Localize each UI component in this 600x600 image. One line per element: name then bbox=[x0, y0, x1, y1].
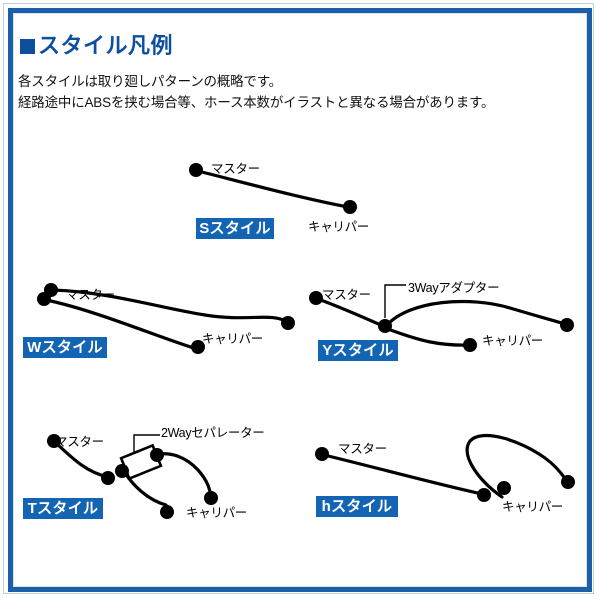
h-style-caliper-label: キャリパー bbox=[502, 496, 563, 515]
style-legend-page: スタイル凡例 各スタイルは取り廻しパターンの概略です。 経路途中にABSを挟む場… bbox=[0, 0, 600, 600]
y-style-caliper-label: キャリパー bbox=[482, 330, 543, 349]
h-style-master-label: マスター bbox=[338, 438, 387, 457]
w-style-master-label: マスター bbox=[66, 284, 115, 303]
description-line-2: 経路途中にABSを挟む場合等、ホース本数がイラストと異なる場合があります。 bbox=[18, 91, 494, 111]
y-style-3way-adapter-label: 3Wayアダプター bbox=[408, 277, 499, 296]
chip-y-style[interactable]: Yスタイル bbox=[318, 340, 398, 361]
page-title: スタイル凡例 bbox=[20, 28, 173, 60]
s-style-caliper-label: キャリパー bbox=[308, 216, 369, 235]
t-style-2way-separator-label: 2Wayセパレーター bbox=[161, 422, 265, 441]
y-style-master-label: マスター bbox=[322, 284, 371, 303]
description-line-1: 各スタイルは取り廻しパターンの概略です。 bbox=[18, 70, 282, 90]
s-style-master-label: マスター bbox=[211, 158, 260, 177]
chip-s-style[interactable]: Sスタイル bbox=[196, 218, 274, 239]
chip-w-style[interactable]: Wスタイル bbox=[23, 337, 107, 358]
w-style-caliper-label: キャリパー bbox=[202, 328, 263, 347]
square-bullet-icon bbox=[20, 39, 35, 54]
page-title-text: スタイル凡例 bbox=[38, 33, 173, 58]
chip-h-style[interactable]: hスタイル bbox=[316, 496, 398, 517]
chip-t-style[interactable]: Tスタイル bbox=[23, 498, 103, 519]
t-style-caliper-label: キャリパー bbox=[186, 502, 247, 521]
t-style-master-label: マスター bbox=[55, 431, 104, 450]
